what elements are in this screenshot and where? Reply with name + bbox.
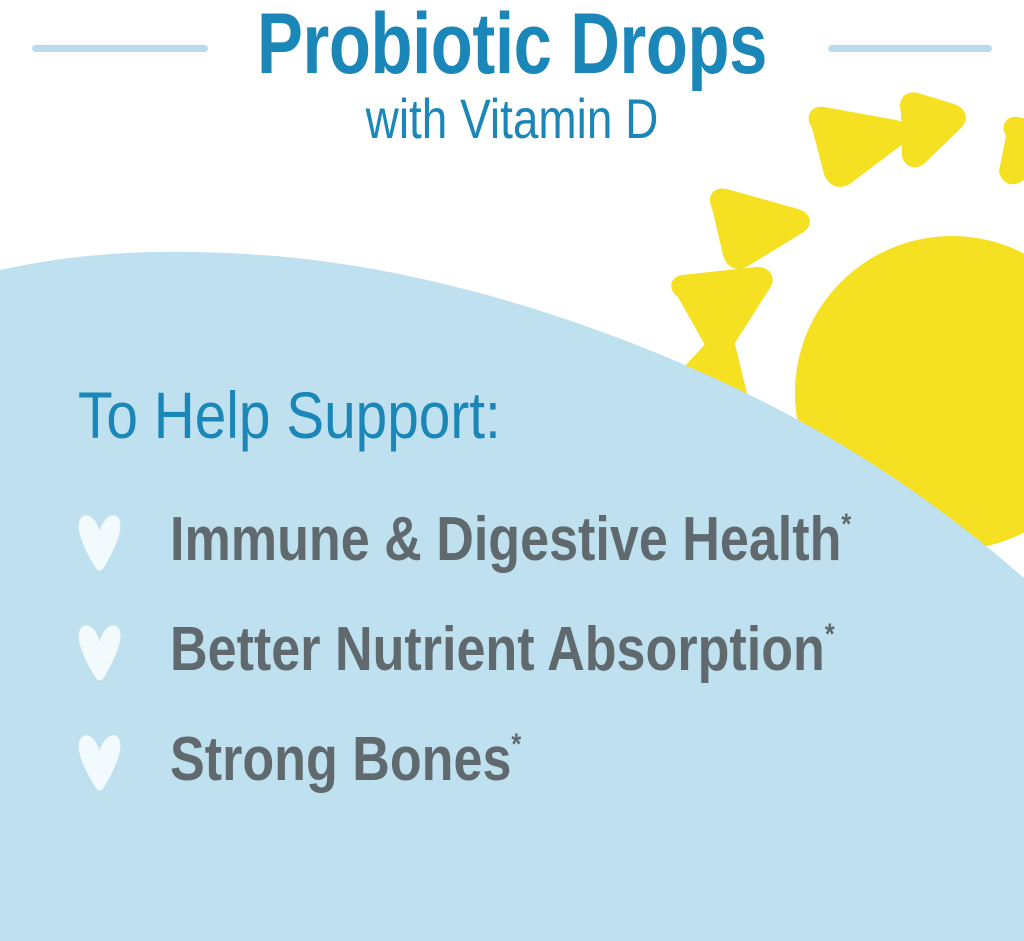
main-content: To Help Support: Immune & Digestive Heal… (0, 0, 1024, 941)
benefit-label: Better Nutrient Absorption* (170, 615, 835, 685)
benefit-text: Strong Bones (170, 725, 511, 794)
footnote-asterisk: * (841, 508, 851, 541)
benefit-list: Immune & Digestive Health* Better Nutrie… (70, 503, 1010, 833)
benefit-item: Strong Bones* (70, 723, 1010, 833)
benefit-label: Immune & Digestive Health* (170, 505, 851, 575)
benefit-label: Strong Bones* (170, 725, 521, 795)
benefit-item: Immune & Digestive Health* (70, 503, 1010, 613)
footnote-asterisk: * (825, 618, 835, 651)
footnote-asterisk: * (511, 728, 521, 761)
benefit-text: Immune & Digestive Health (170, 505, 841, 574)
support-heading: To Help Support: (78, 378, 501, 452)
benefit-item: Better Nutrient Absorption* (70, 613, 1010, 723)
benefit-text: Better Nutrient Absorption (170, 615, 825, 684)
heart-icon (78, 513, 122, 573)
heart-icon (78, 623, 122, 683)
product-callout-panel: Probiotic Drops with Vitamin D To Help S… (0, 0, 1024, 941)
heart-icon (78, 733, 122, 793)
